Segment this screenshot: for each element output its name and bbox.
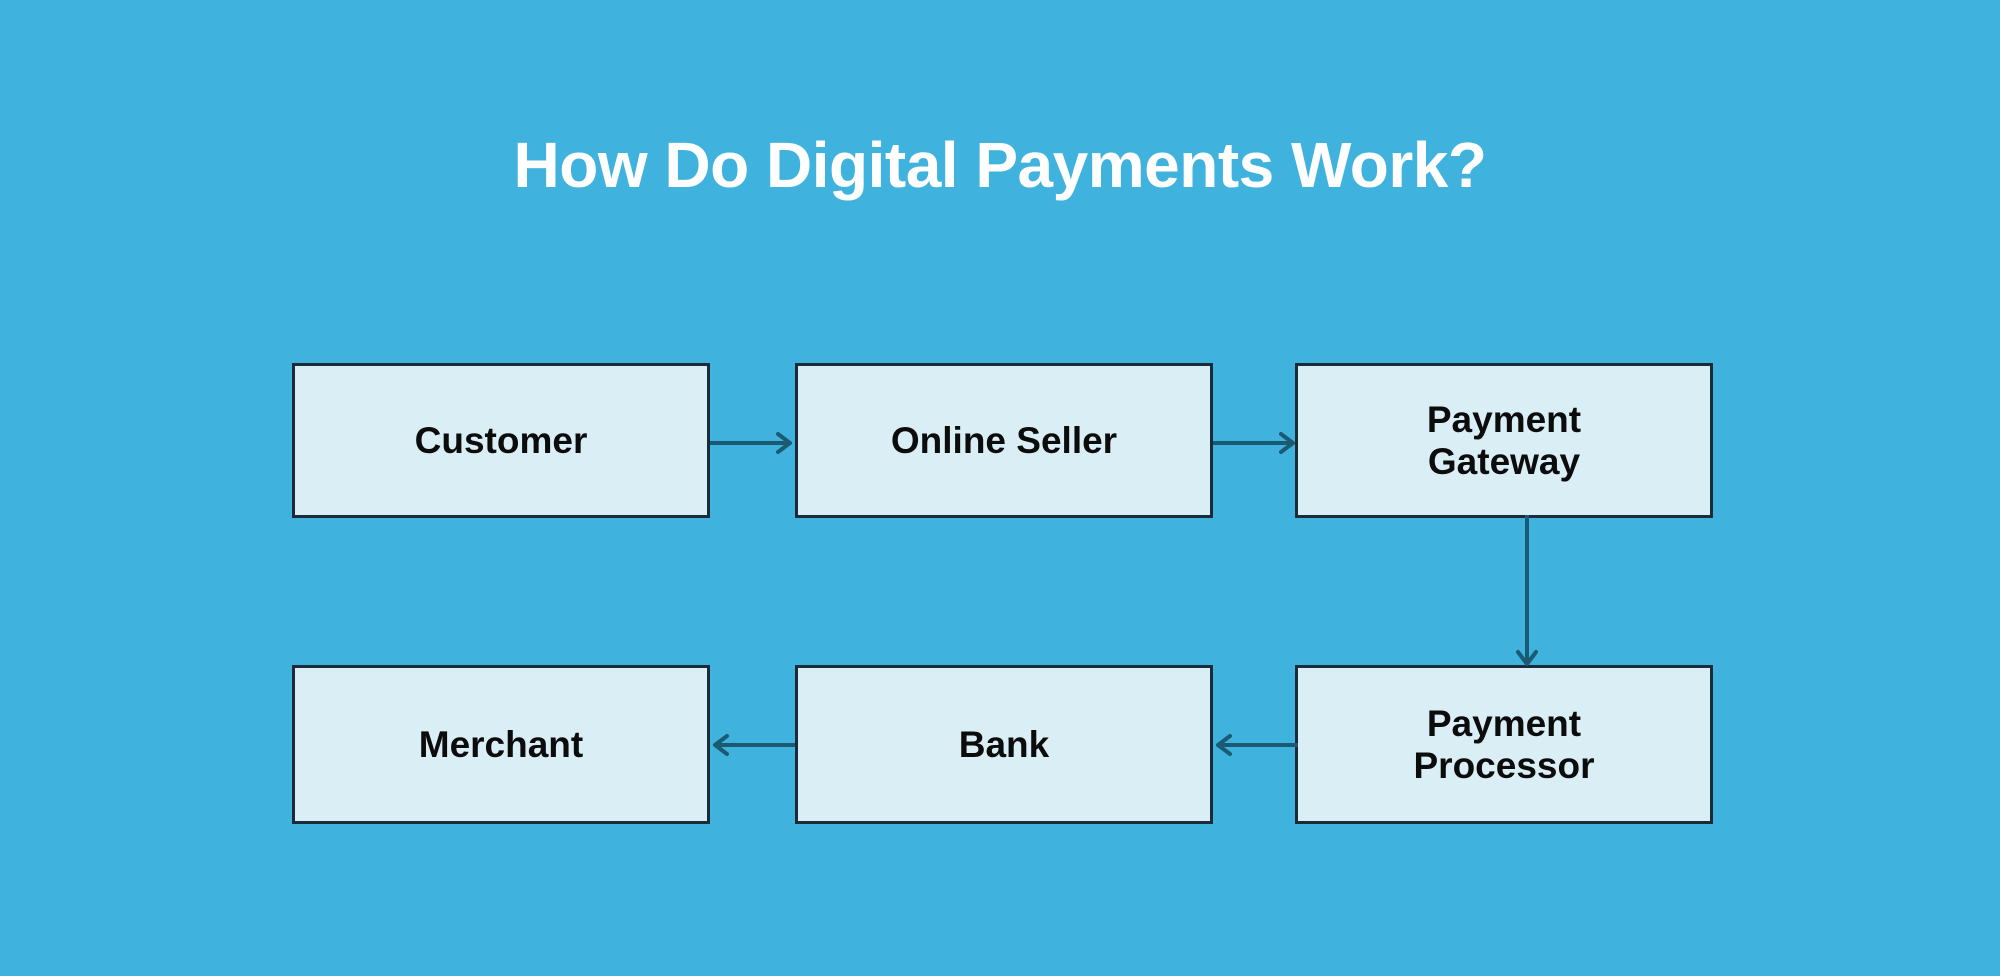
edge-online-seller-to-payment-gateway-arrow-icon bbox=[1213, 428, 1298, 458]
flow-node-label: Bank bbox=[959, 724, 1049, 765]
flow-node-label: Online Seller bbox=[891, 420, 1117, 461]
edge-bank-to-merchant-arrow-icon bbox=[710, 730, 795, 760]
flow-node-payment-gateway[interactable]: Payment Gateway bbox=[1295, 363, 1713, 518]
flow-node-label: Payment Processor bbox=[1414, 703, 1595, 786]
flow-node-label: Customer bbox=[415, 420, 588, 461]
edge-payment-gateway-to-payment-processor-arrow-icon bbox=[1512, 515, 1542, 668]
edge-customer-to-online-seller-arrow-icon bbox=[710, 428, 795, 458]
flow-node-payment-processor[interactable]: Payment Processor bbox=[1295, 665, 1713, 824]
flow-node-online-seller[interactable]: Online Seller bbox=[795, 363, 1213, 518]
flow-node-customer[interactable]: Customer bbox=[292, 363, 710, 518]
flow-node-label: Merchant bbox=[419, 724, 583, 765]
flow-node-merchant[interactable]: Merchant bbox=[292, 665, 710, 824]
diagram-canvas: How Do Digital Payments Work? Customer O… bbox=[0, 0, 2000, 976]
edge-payment-processor-to-bank-arrow-icon bbox=[1213, 730, 1298, 760]
page-title: How Do Digital Payments Work? bbox=[0, 132, 2000, 199]
flow-node-label: Payment Gateway bbox=[1427, 399, 1581, 482]
flow-node-bank[interactable]: Bank bbox=[795, 665, 1213, 824]
